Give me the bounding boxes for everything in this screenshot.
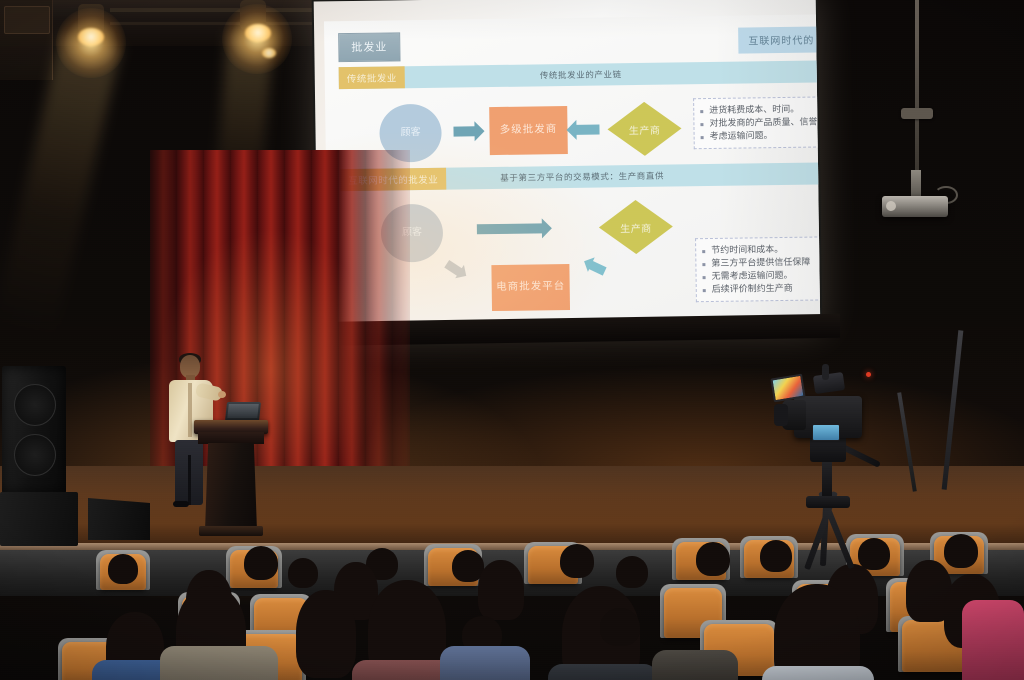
laptop-screen [227,404,258,418]
wooden-podium [196,408,266,536]
slide-title-label: 批发业 [338,32,400,62]
audience-member [560,544,594,578]
flow1-bullet-2: 考虑运输问题。 [699,128,821,143]
flow1-arrow-left-icon [575,125,599,135]
audience-member [616,556,648,588]
camera-record-light [866,372,871,377]
presenter-hand [218,391,226,398]
audience-member [696,542,730,576]
camera-side-panel [812,424,840,441]
podium-body [205,443,257,531]
camera-lcd-screen[interactable] [770,374,805,403]
tripod-column [822,460,832,496]
pa-woofer-lower [14,434,56,476]
audience-member [244,546,278,580]
pa-woofer-upper [14,384,56,426]
presenter-shoe [173,501,189,507]
tripod-spreader [806,496,850,508]
audience-member [440,646,530,680]
auditorium-scene: 批发业 互联网时代的 传统批发业的产业链 传统批发业 顾客 多级批发商 生产商 [0,0,1024,680]
flow1-arrow-right-icon [453,126,475,136]
audience-member [762,666,874,680]
camera-viewfinder [813,372,845,394]
audience-member [962,600,1024,680]
flow1-bullet-box: 进货耗费成本、时间。 对批发商的产品质量、信誉不够了解。 考虑运输问题。 [693,96,820,149]
projector-neck [911,170,921,198]
flow1-producer-diamond-wrap: 生产商 [607,101,682,156]
pa-speaker-stack [2,366,66,494]
laptop-on-podium [225,402,261,421]
stage-spotlight-core-small [262,48,276,58]
audience-member [548,664,658,680]
truss-bar-lower [110,22,330,25]
truss-bar [110,8,330,12]
slide-band-traditional: 传统批发业的产业链 传统批发业 [339,60,821,89]
audience-member [478,560,524,620]
slide-band-tag-1: 传统批发业 [339,66,405,89]
audience-member [652,650,738,680]
audience-member [944,534,978,568]
hanging-speaker-array [0,0,53,80]
flow1-producer-diamond: 生产商 [607,101,682,156]
podium-top-lip [198,432,264,444]
ceiling-projector [882,196,948,217]
camera-lens-hood [774,404,788,426]
flow1-wholesaler-box: 多级批发商 [489,106,568,155]
slide-band-text-1: 传统批发业的产业链 [339,60,821,89]
projector-pole-clamp [901,108,933,119]
audience-member [108,554,138,584]
audience-member [296,590,356,678]
projector-mount-pole [915,0,919,176]
presenter-jacket-placket [188,383,192,437]
projector-lens [886,201,896,211]
presenter-leg-gap [188,455,191,505]
camera-microphone [822,364,829,380]
camera-rig [766,368,886,558]
audience-member [600,608,640,646]
audience-member [288,558,318,588]
audience-member [160,646,278,680]
slide-corner-badge: 互联网时代的 [738,26,820,53]
